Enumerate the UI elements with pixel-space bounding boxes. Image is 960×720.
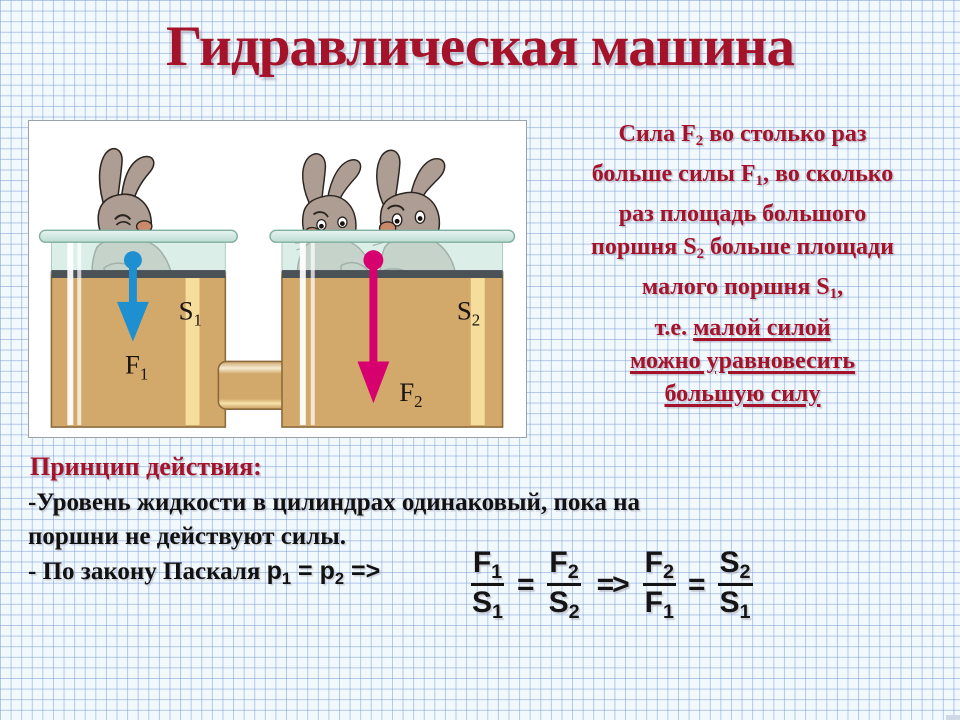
statement-line-1-text: Сила F <box>619 121 696 147</box>
pascal-law-line: - По закону Паскаля p1 = p2 => <box>28 554 380 596</box>
formula-2-left-numerator: F2 <box>643 548 676 586</box>
statement-block: Сила F2 во столько раз больше силы F1, в… <box>525 118 960 411</box>
f2-left-den-sub: 1 <box>663 601 674 623</box>
pascal-prefix: - По закону Паскаля <box>28 558 267 585</box>
statement-line-2-sub: 1 <box>756 173 763 189</box>
hydraulic-machine-illustration: F1 S1 F2 S2 <box>28 120 527 438</box>
formula-1-operator: = <box>516 568 536 602</box>
pascal-p2: p <box>320 557 335 585</box>
formula-connector-arrow: => <box>593 568 632 602</box>
f2-left-den-symbol: F <box>645 586 663 619</box>
pascal-equals: = <box>291 557 320 585</box>
f1-right-num-symbol: F <box>549 546 567 579</box>
cylinder-large: F2 S2 <box>270 230 514 427</box>
cylinder-small: F1 S1 <box>40 230 238 427</box>
f1-left-num-symbol: F <box>473 546 491 579</box>
pascal-p1: p <box>267 557 282 585</box>
pascal-pressure-equation: p1 = p2 => <box>267 557 381 585</box>
emphasis-text-2: можно уравновесить <box>630 348 855 374</box>
f2-right-num-sub: 2 <box>740 561 751 583</box>
formula-2-right-numerator: S2 <box>718 548 753 586</box>
f1-right-num-sub: 2 <box>568 561 579 583</box>
page-title: Гидравлическая машина <box>0 16 960 78</box>
formula-2-left-denominator: F1 <box>643 586 676 622</box>
pascal-p1-sub: 1 <box>282 570 291 588</box>
statement-emphasis-line-2: можно уравновесить <box>525 345 960 378</box>
statement-line-5: малого поршня S1, <box>525 271 960 311</box>
pascal-implies-arrow: => <box>344 557 380 585</box>
statement-emphasis-line-3: большую силу <box>525 378 960 411</box>
f2-right-num-symbol: S <box>720 546 740 579</box>
emphasis-text-3: большую силу <box>664 381 820 407</box>
corner-strip <box>946 715 960 720</box>
statement-line-2-tail: , во сколько <box>763 161 893 187</box>
f1-left-num-sub: 1 <box>491 561 502 583</box>
statement-line-2-text: больше силы F <box>592 161 756 187</box>
formula-2-operator: = <box>687 568 707 602</box>
principle-body: -Уровень жидкости в цилиндрах одинаковый… <box>28 486 648 554</box>
emphasis-prefix: т.е. <box>654 315 693 341</box>
formula-2-left-fraction: F2 F1 <box>643 548 676 622</box>
principle-heading: Принцип действия: <box>30 452 262 482</box>
formula-2-right-fraction: S2 S1 <box>718 548 753 622</box>
principle-body-line-1: -Уровень жидкости в цилиндрах одинаковый… <box>28 486 648 520</box>
f2-right-den-sub: 1 <box>740 601 751 623</box>
formula-1-left-fraction: F1 S1 <box>470 548 505 622</box>
f2-left-num-symbol: F <box>645 546 663 579</box>
f1-left-den-sub: 1 <box>492 601 503 623</box>
f2-right-den-symbol: S <box>720 586 740 619</box>
connecting-pipe <box>218 361 290 409</box>
formula-2-right-denominator: S1 <box>718 586 753 622</box>
formula-1-right-denominator: S2 <box>547 586 582 622</box>
statement-line-2: больше силы F1, во сколько <box>525 158 960 198</box>
statement-line-4: поршня S2 больше площади <box>525 231 960 271</box>
statement-line-1-tail: во столько раз <box>703 121 866 147</box>
f1-left-den-symbol: S <box>472 586 492 619</box>
emphasis-text-1: малой силой <box>693 315 830 341</box>
pascal-p2-sub: 2 <box>335 570 344 588</box>
formula-row: F1 S1 = F2 S2 => F2 F1 = S2 S1 <box>470 548 753 622</box>
statement-line-4-text: поршня S <box>591 234 697 260</box>
formula-1-right-fraction: F2 S2 <box>547 548 582 622</box>
statement-line-3: раз площадь большого <box>525 198 960 231</box>
statement-line-3-text: раз площадь большого <box>619 201 866 227</box>
statement-line-5-tail: , <box>837 274 843 300</box>
statement-line-5-sub: 1 <box>830 287 837 303</box>
statement-line-1: Сила F2 во столько раз <box>525 118 960 158</box>
formula-1-left-denominator: S1 <box>470 586 505 622</box>
statement-line-5-text: малого поршня S <box>642 274 830 300</box>
formula-1-left-numerator: F1 <box>471 548 504 586</box>
statement-emphasis-line-1: т.е. малой силой <box>525 312 960 345</box>
f1-right-den-sub: 2 <box>569 601 580 623</box>
formula-1-right-numerator: F2 <box>547 548 580 586</box>
f1-right-den-symbol: S <box>549 586 569 619</box>
f2-left-num-sub: 2 <box>663 561 674 583</box>
statement-line-4-sub: 2 <box>697 246 704 262</box>
statement-line-4-tail: больше площади <box>704 234 894 260</box>
